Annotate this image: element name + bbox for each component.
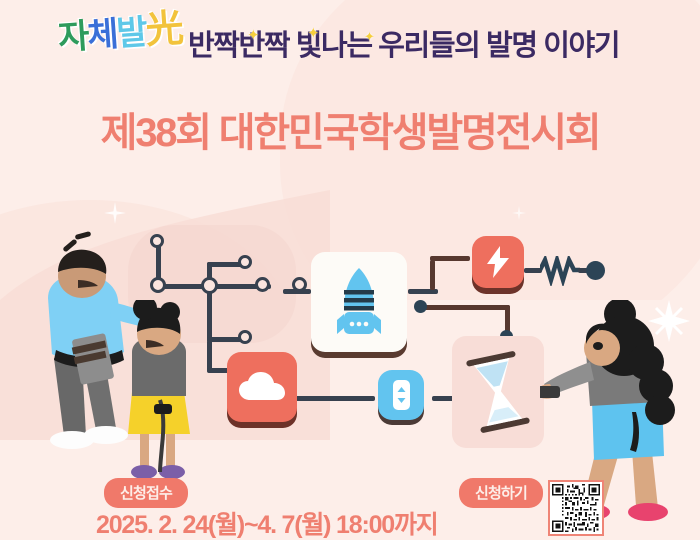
sparkle-icon bbox=[512, 206, 526, 220]
connector-line bbox=[430, 260, 435, 290]
star-icon bbox=[648, 300, 690, 342]
logo-char-2: 체 bbox=[86, 15, 118, 55]
rocket-icon bbox=[311, 252, 407, 352]
logo-char-4: 光 bbox=[144, 8, 183, 52]
connector-line bbox=[416, 305, 510, 310]
connector-line bbox=[430, 256, 470, 261]
connector-line bbox=[283, 289, 311, 294]
connector-line bbox=[295, 396, 375, 401]
sparkle-icon: ✦ bbox=[247, 28, 260, 43]
poster-canvas: 자체발光 반짝반짝 빛나는 우리들의 발명 이야기 ✦ ✦ ✦ 제38회 대한민… bbox=[0, 0, 700, 540]
lightning-icon bbox=[472, 236, 524, 288]
hourglass-icon bbox=[452, 336, 544, 448]
connector-dot bbox=[414, 300, 427, 313]
brand-logo-text: 자체발光 bbox=[57, 10, 183, 57]
application-period: 2025. 2. 24(월)~4. 7(월) 18:00까지 bbox=[96, 505, 438, 540]
sparkle-icon: ✦ bbox=[364, 30, 375, 43]
stepper-icon bbox=[378, 370, 424, 420]
qr-code[interactable] bbox=[548, 480, 604, 536]
sparkle-icon: ✦ bbox=[307, 26, 320, 41]
sparkle-icon bbox=[104, 202, 126, 224]
girl-standing bbox=[118, 300, 204, 485]
cloud-icon bbox=[227, 352, 297, 422]
page-title: 제38회 대한민국학생발명전시회 bbox=[0, 100, 700, 158]
apply-now-badge[interactable]: 신청하기 bbox=[459, 478, 543, 508]
logo-char-3: 발 bbox=[115, 13, 147, 53]
brand-logo: 자체발光 bbox=[58, 14, 182, 52]
apply-receipt-badge: 신청접수 bbox=[104, 478, 188, 508]
logo-char-1: 자 bbox=[57, 17, 89, 57]
